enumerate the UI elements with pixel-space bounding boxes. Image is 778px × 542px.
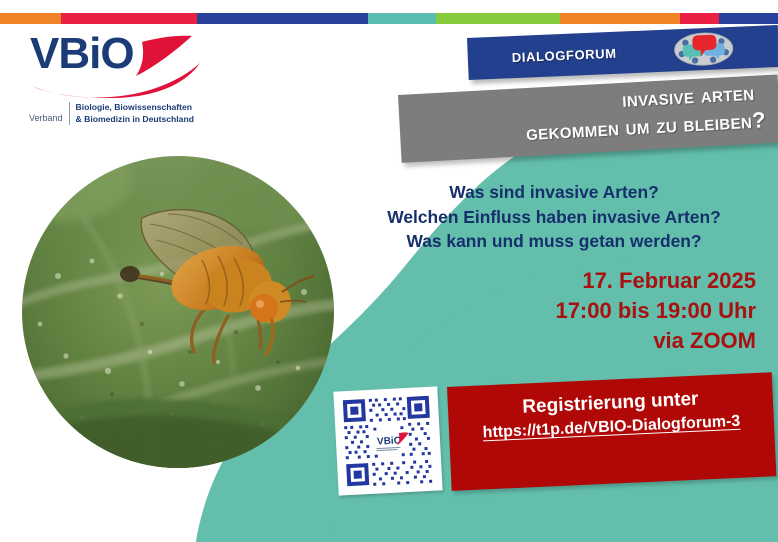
colorbar-seg-7 — [680, 13, 719, 24]
vbio-tagline-line2: & Biomedizin in Deutschland — [76, 114, 194, 126]
question-line-2: Welchen Einfluss haben invasive Arten? — [346, 205, 762, 230]
colorbar-seg-3 — [197, 13, 368, 24]
question-line-3: Was kann und muss getan werden? — [346, 229, 762, 254]
discussion-table-icon — [672, 30, 735, 69]
registration-box[interactable]: Registrierung unter https://t1p.de/VBIO-… — [447, 372, 776, 491]
colorbar-seg-4 — [368, 13, 436, 24]
event-time: 17:00 bis 19:00 Uhr — [420, 296, 756, 326]
vbio-tagline-divider — [69, 102, 70, 125]
question-line-1: Was sind invasive Arten? — [346, 180, 762, 205]
brand-colorbar — [0, 13, 778, 24]
vbio-logo: VBiO Verband Biologie, Biowissenschaften… — [24, 30, 234, 92]
event-details: 17. Februar 2025 17:00 bis 19:00 Uhr via… — [420, 266, 756, 356]
title-banner: Invasive Arten Gekommen um zu bleiben? — [398, 74, 778, 162]
vbio-tagline-line1: Biologie, Biowissenschaften — [76, 102, 194, 114]
registration-qr-code[interactable]: VBiO — [333, 386, 442, 495]
svg-text:VBiO: VBiO — [377, 435, 402, 447]
colorbar-seg-1 — [0, 13, 61, 24]
vbio-wordmark: VBiO — [30, 30, 134, 78]
dialogforum-banner: Dialogforum — [467, 25, 778, 80]
event-date: 17. Februar 2025 — [420, 266, 756, 296]
event-platform: via ZOOM — [420, 326, 756, 356]
title-line-2: Gekommen um zu bleiben? — [525, 107, 766, 146]
vbio-tagline-verband: Verband — [29, 102, 69, 125]
poster-canvas: VBiO Verband Biologie, Biowissenschaften… — [0, 0, 778, 542]
question-block: Was sind invasive Arten? Welchen Einflus… — [346, 180, 762, 254]
vbio-tagline: Verband Biologie, Biowissenschaften & Bi… — [29, 102, 194, 125]
colorbar-seg-6 — [560, 13, 680, 24]
vbio-logo-mark: VBiO — [24, 30, 224, 92]
colorbar-seg-8 — [719, 13, 778, 24]
colorbar-seg-5 — [436, 13, 561, 24]
colorbar-seg-2 — [61, 13, 197, 24]
fly-on-leaf-photo — [22, 156, 334, 468]
dialogforum-label: Dialogforum — [511, 42, 617, 68]
